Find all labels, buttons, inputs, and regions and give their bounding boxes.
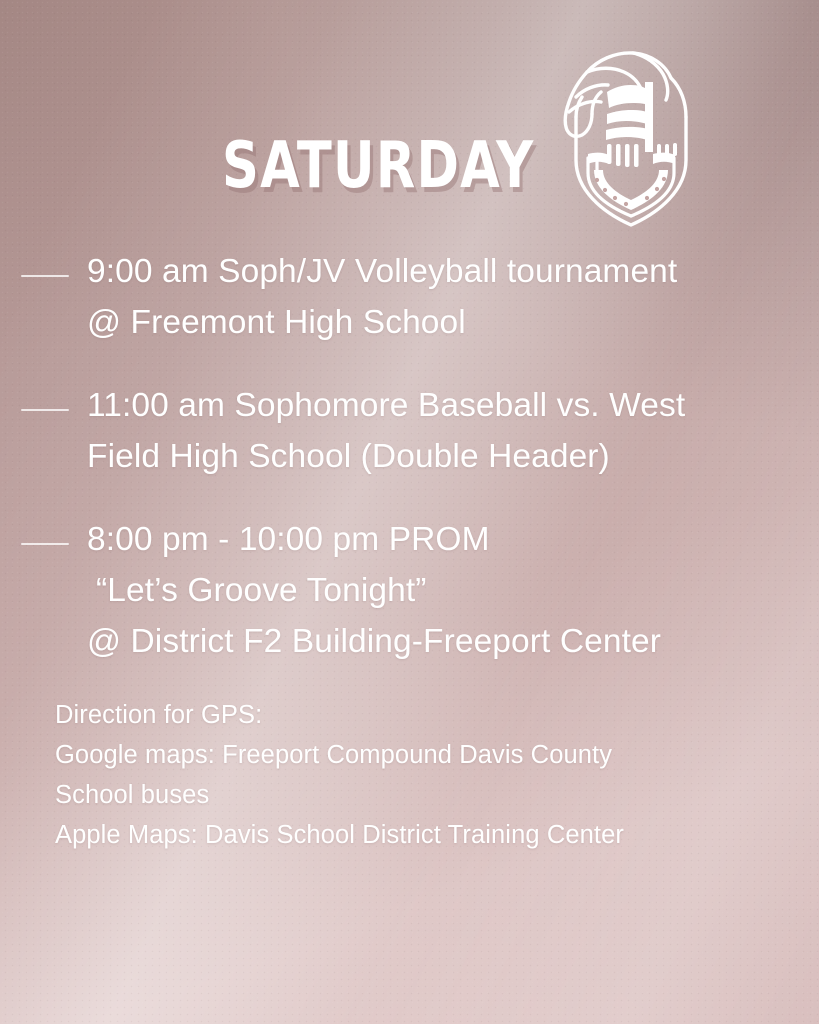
gps-line: School buses [55,775,795,815]
gps-line: Google maps: Freeport Compound Davis Cou… [55,735,795,775]
saturday-schedule-poster: SATURDAY [0,0,819,1024]
schedule-event: 9:00 am Soph/JV Volleyball tournament @ … [0,246,819,348]
schedule-line: “Let’s Groove Tonight” [87,565,799,616]
dash-marker-icon [21,543,69,545]
dash-marker-icon [21,409,69,411]
gps-heading: Direction for GPS: [55,695,795,735]
schedule-list: 9:00 am Soph/JV Volleyball tournament @ … [0,246,819,667]
gps-directions-block: Direction for GPS: Google maps: Freeport… [55,695,795,855]
schedule-event-text: 9:00 am Soph/JV Volleyball tournament @ … [87,246,819,348]
schedule-line: 8:00 pm - 10:00 pm PROM [87,514,799,565]
poster-content: SATURDAY [0,0,819,1024]
schedule-line: @ Freemont High School [87,297,799,348]
schedule-line: @ District F2 Building-Freeport Center [87,616,799,667]
dash-marker-icon [21,275,69,277]
schedule-line: Field High School (Double Header) [87,431,799,482]
schedule-event-text: 11:00 am Sophomore Baseball vs. West Fie… [87,380,819,482]
knight-helmet-shield-logo [545,40,717,230]
page-title: SATURDAY [222,134,534,198]
schedule-event: 11:00 am Sophomore Baseball vs. West Fie… [0,380,819,482]
schedule-line: 9:00 am Soph/JV Volleyball tournament [87,246,799,297]
schedule-line: 11:00 am Sophomore Baseball vs. West [87,380,799,431]
schedule-event: 8:00 pm - 10:00 pm PROM “Let’s Groove To… [0,514,819,667]
schedule-event-text: 8:00 pm - 10:00 pm PROM “Let’s Groove To… [87,514,819,667]
gps-line: Apple Maps: Davis School District Traini… [55,815,795,855]
poster-header: SATURDAY [0,22,819,232]
